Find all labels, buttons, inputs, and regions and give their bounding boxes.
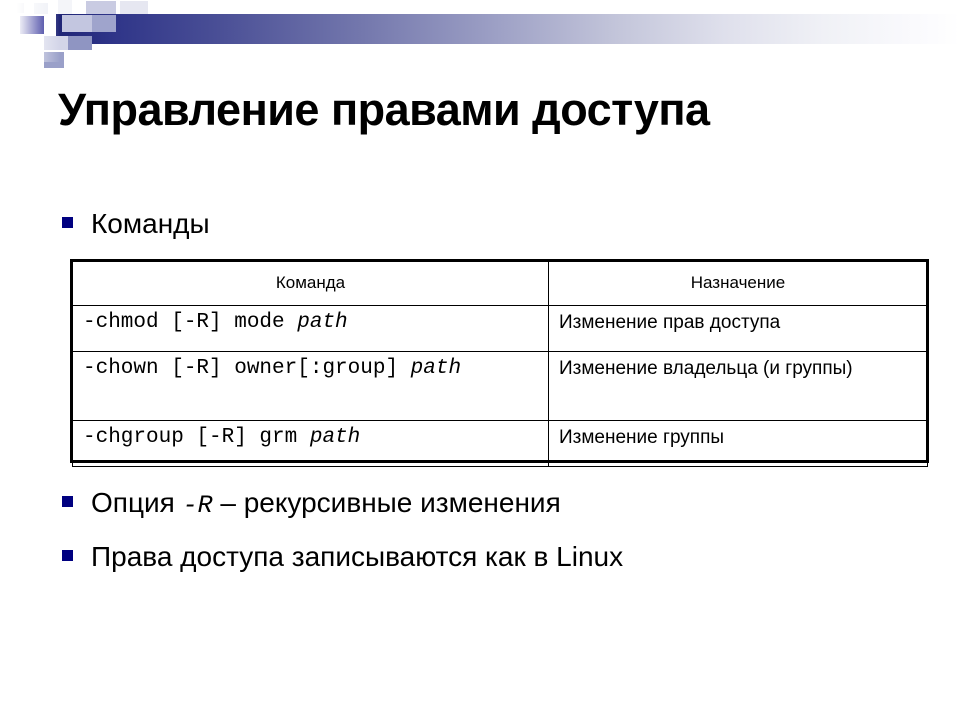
command-text: -chown [-R] owner[:group]: [83, 357, 411, 380]
header-gradient-band: [56, 14, 960, 44]
table-header-row: Команда Назначение: [73, 262, 928, 306]
square-bullet-icon: [62, 217, 73, 228]
cell-description: Изменение владельца (и группы): [549, 352, 928, 421]
deco-square-6: [62, 15, 92, 32]
cell-description: Изменение группы: [549, 421, 928, 467]
command-argument: path: [310, 426, 360, 449]
deco-square-9: [68, 36, 92, 50]
column-header-purpose: Назначение: [549, 262, 928, 306]
command-text: -chmod [-R] mode: [83, 311, 297, 334]
bullet-item-option: Опция -R – рекурсивные изменения: [62, 487, 561, 521]
cell-command: -chgroup [-R] grm path: [73, 421, 549, 467]
command-argument: path: [297, 311, 347, 334]
option-prefix: Опция: [91, 487, 183, 518]
command-argument: path: [411, 357, 461, 380]
table-row: -chmod [-R] mode path Изменение прав дос…: [73, 306, 928, 352]
deco-square-4: [86, 1, 116, 14]
bullet-item-rights: Права доступа записываются как в Linux: [62, 541, 623, 573]
table-row: -chgroup [-R] grm path Изменение группы: [73, 421, 928, 467]
bullet-label-rights: Права доступа записываются как в Linux: [91, 541, 623, 573]
cell-command: -chown [-R] owner[:group] path: [73, 352, 549, 421]
table-row: -chown [-R] owner[:group] path Изменение…: [73, 352, 928, 421]
cell-command: -chmod [-R] mode path: [73, 306, 549, 352]
page-title: Управление правами доступа: [58, 86, 928, 133]
deco-square-5: [120, 1, 148, 14]
option-code: -R: [183, 491, 213, 520]
command-text: -chgroup [-R] grm: [83, 426, 310, 449]
bullet-item-commands: Команды: [62, 208, 210, 240]
slide-header-decoration: [0, 0, 960, 62]
bullet-label-option: Опция -R – рекурсивные изменения: [91, 487, 561, 521]
deco-square-3: [58, 0, 72, 14]
commands-table: Команда Назначение -chmod [-R] mode path…: [72, 261, 928, 467]
bullet-label-commands: Команды: [91, 208, 210, 240]
square-bullet-icon: [62, 496, 73, 507]
option-suffix: – рекурсивные изменения: [213, 487, 561, 518]
header-left-fade: [0, 0, 60, 62]
column-header-command: Команда: [73, 262, 549, 306]
cell-description: Изменение прав доступа: [549, 306, 928, 352]
deco-square-7: [92, 15, 116, 32]
square-bullet-icon: [62, 550, 73, 561]
